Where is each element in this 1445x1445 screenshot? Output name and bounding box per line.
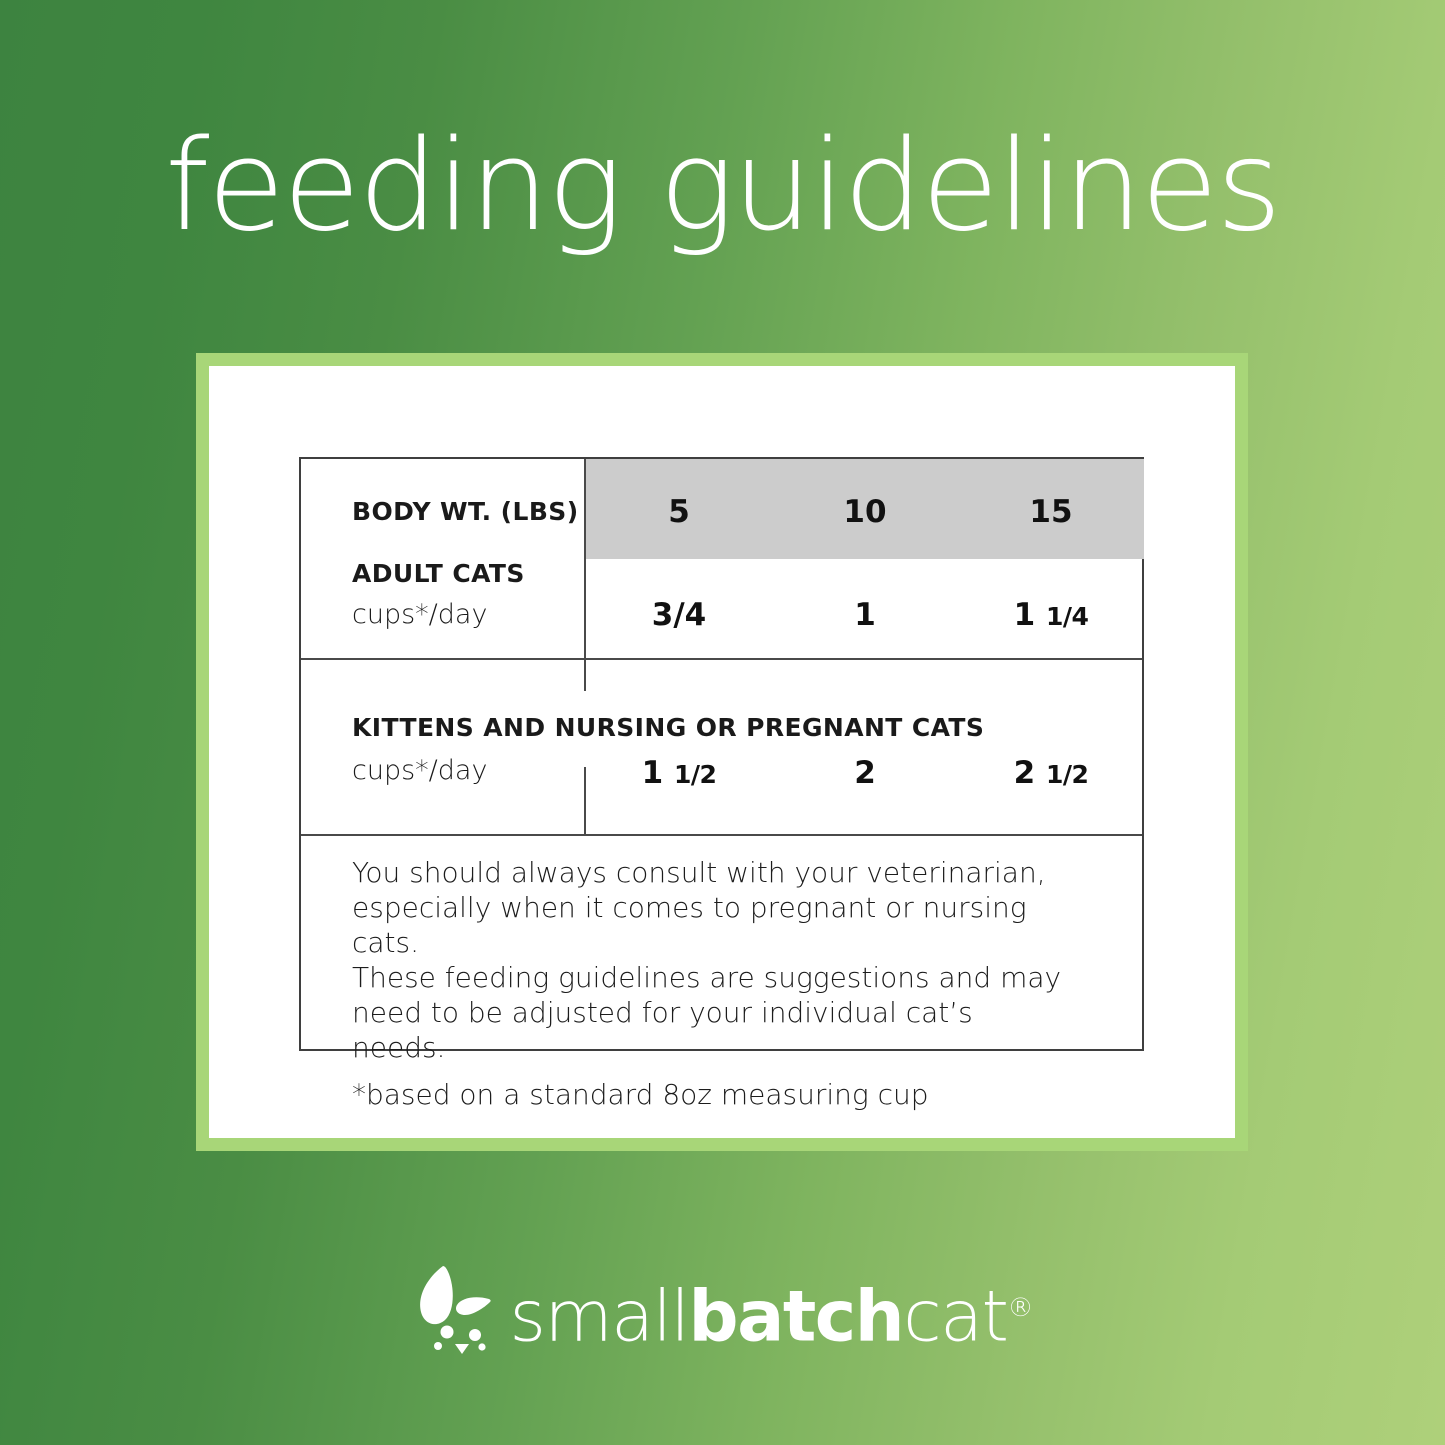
page-title: feeding guidelines [0,118,1445,254]
weight-value-1: 10 [772,494,958,530]
table-row-divider-1 [301,658,1142,660]
adult-value-2: 1 1/4 [958,597,1144,633]
measuring-cup-footnote: *based on a standard 8oz measuring cup [352,1077,1072,1112]
adult-cats-unit: cups*/day [352,599,487,630]
weight-value-2: 15 [958,494,1144,530]
disclaimer-block: You should always consult with your vete… [352,855,1072,1112]
adult-value-0: 3/4 [586,597,772,633]
feeding-table: BODY WT. (LBS) 5 10 15 ADULT CATS cups*/… [299,457,1144,1051]
weight-value-0: 5 [586,494,772,530]
disclaimer-line-1: You should always consult with your vete… [352,855,1072,890]
brand-word-cat: cat [903,1275,1007,1357]
adult-cats-values-row: 3/4 1 1 1/4 [586,597,1144,633]
adult-value-1: 1 [772,597,958,633]
brand-word-batch: batch [688,1275,903,1357]
table-row-divider-2 [301,834,1142,836]
kitten-value-0: 1 1/2 [586,755,772,791]
disclaimer-line-2: especially when it comes to pregnant or … [352,890,1072,960]
kitten-value-2: 2 1/2 [958,755,1144,791]
kittens-unit: cups*/day [352,755,487,786]
kittens-values-row: 1 1/2 2 2 1/2 [586,755,1144,791]
weight-values-row: 5 10 15 [586,494,1144,530]
disclaimer-line-3: These feeding guidelines are suggestions… [352,960,1072,995]
registered-trademark-icon: ® [1007,1293,1032,1323]
kittens-label: KITTENS AND NURSING OR PREGNANT CATS [352,713,984,742]
page-title-text: feeding guidelines [165,112,1280,259]
body-weight-label: BODY WT. (LBS) [352,497,579,526]
brand-word-small: small [510,1275,689,1357]
brand-wordmark: smallbatchcat® [510,1267,1032,1357]
brand-logo: smallbatchcat® [0,1262,1445,1362]
leaf-cat-face-icon [413,1262,499,1362]
feeding-guidelines-page: feeding guidelines BODY WT. (LBS) 5 10 1… [0,0,1445,1445]
kitten-value-1: 2 [772,755,958,791]
card-content-layer: BODY WT. (LBS) 5 10 15 ADULT CATS cups*/… [196,353,1248,1151]
disclaimer-line-4: need to be adjusted for your individual … [352,995,1072,1065]
adult-cats-label: ADULT CATS [352,559,525,588]
